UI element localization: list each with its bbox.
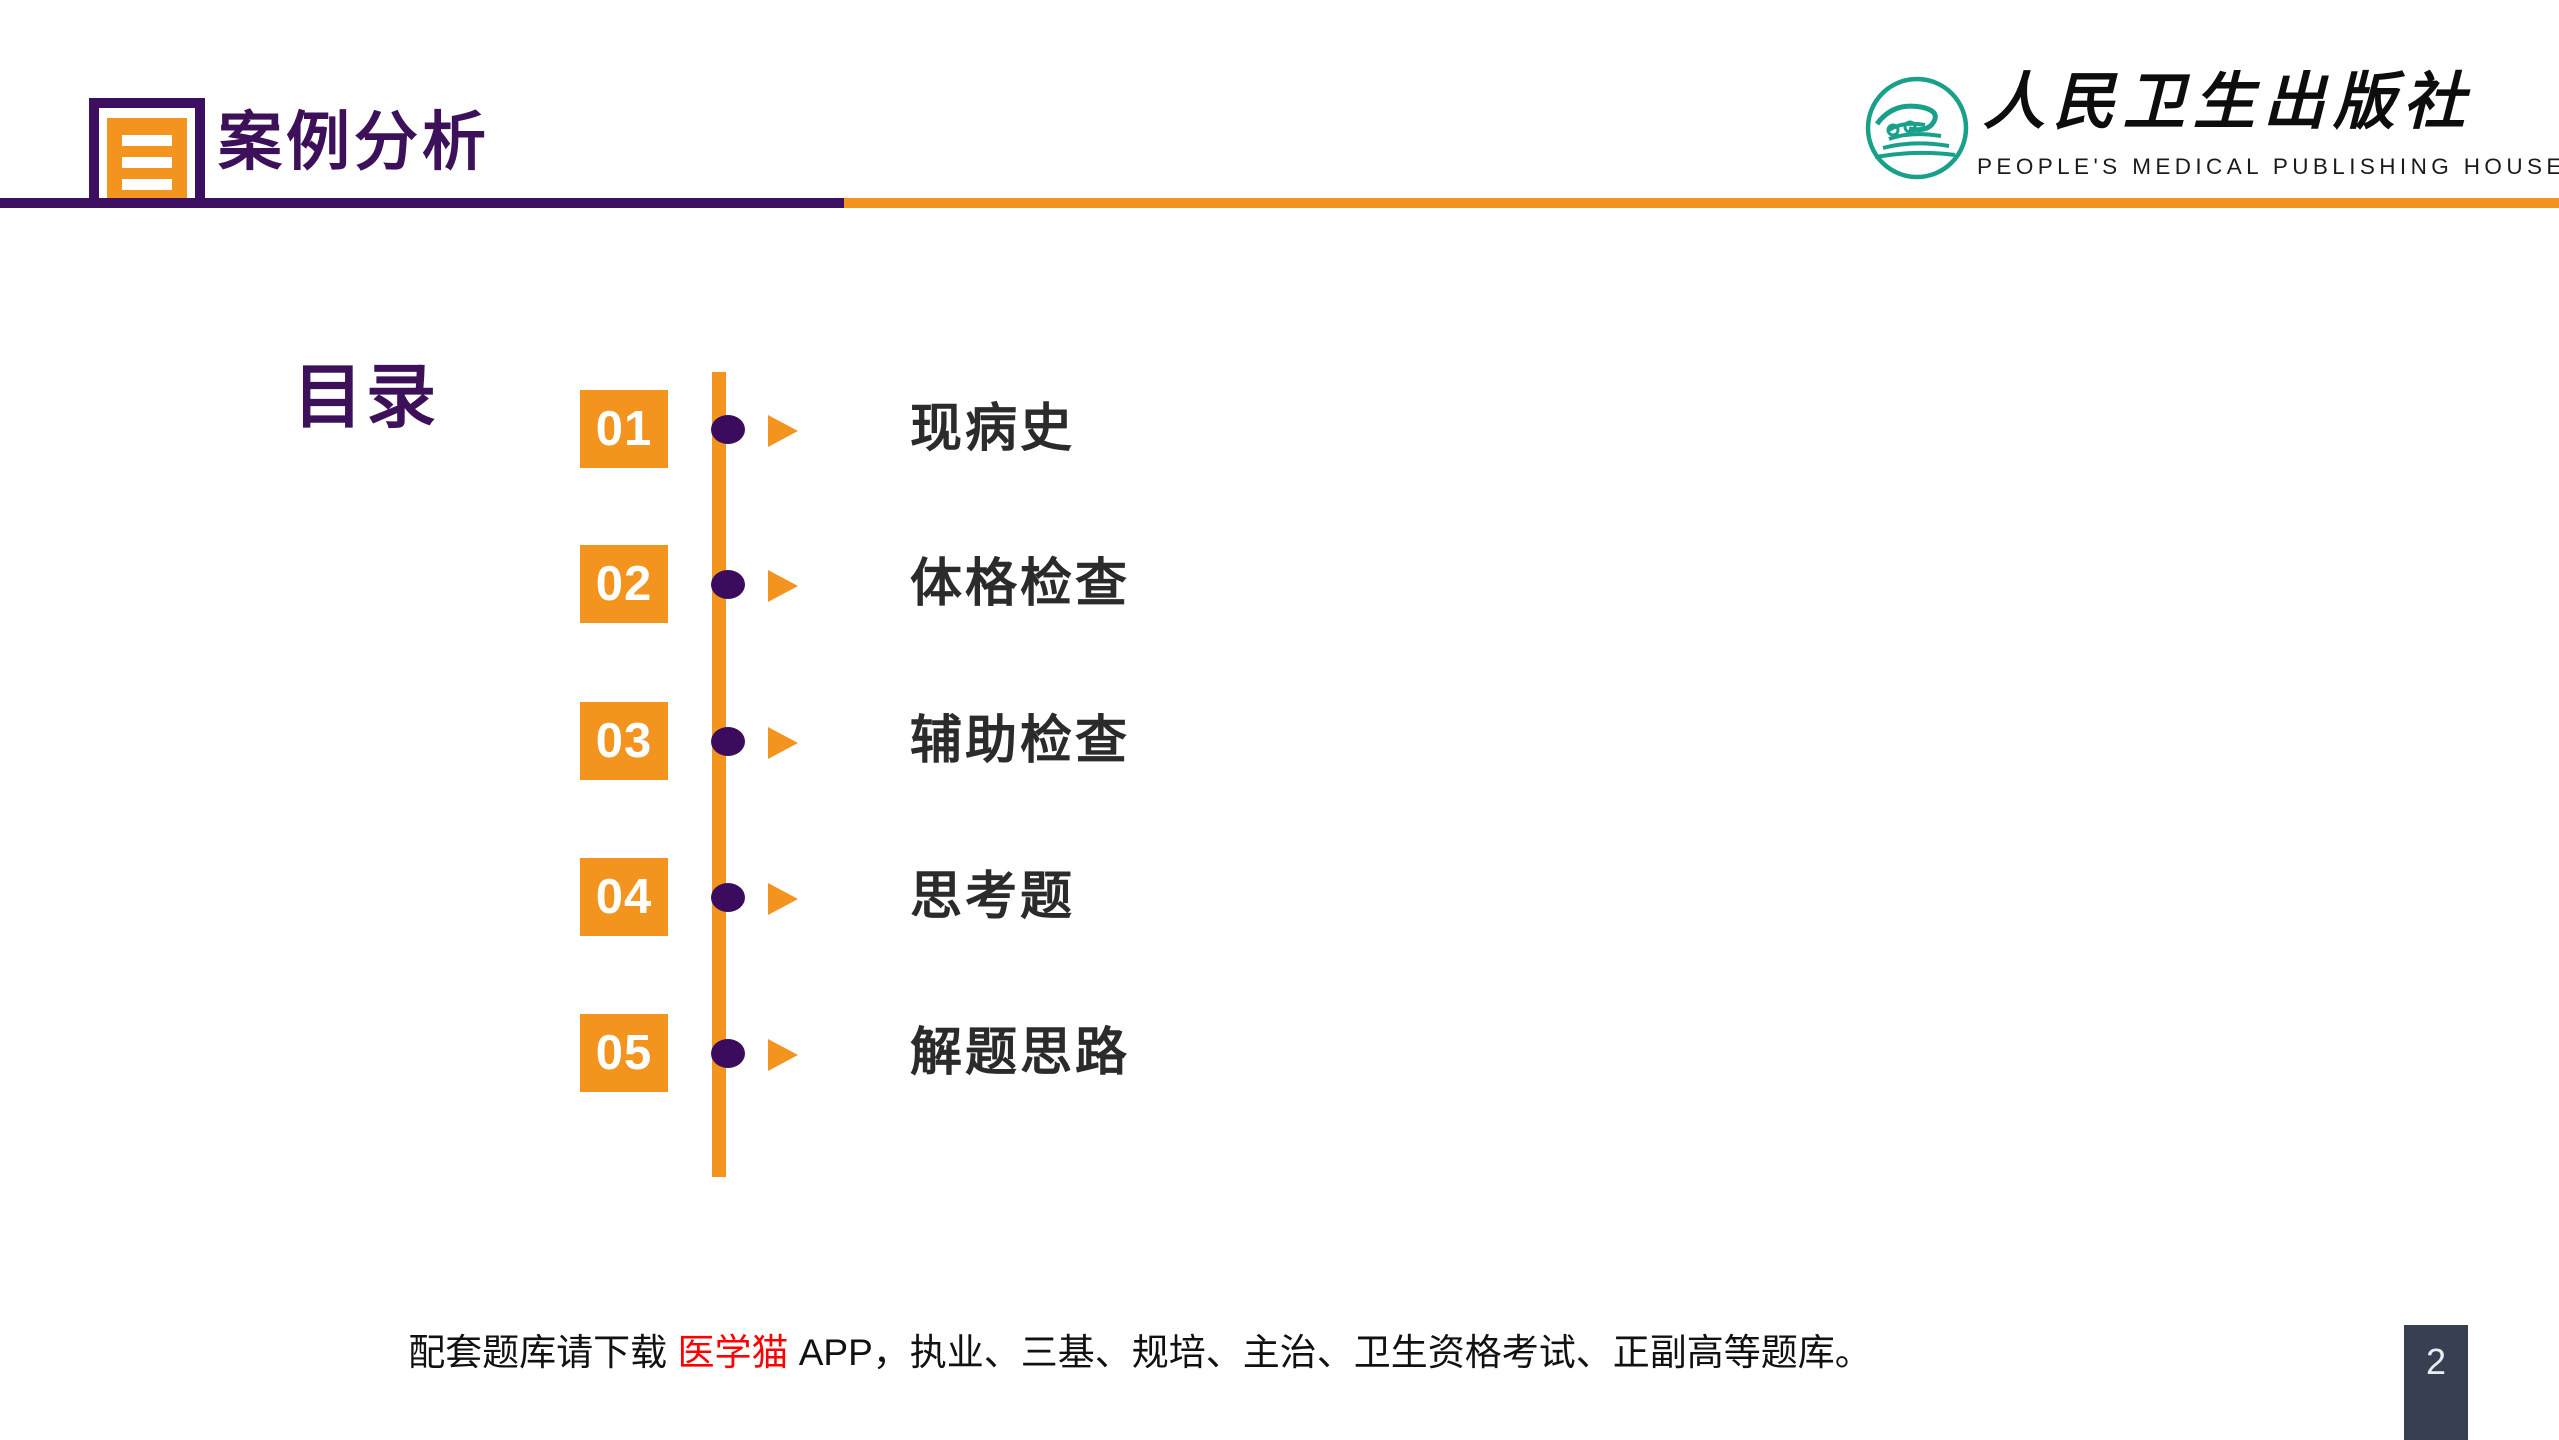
page-title: 案例分析 [218, 110, 490, 174]
list-item[interactable]: 02 体格检查 [580, 545, 1580, 641]
timeline-dot-icon [711, 570, 745, 599]
list-item[interactable]: 04 思考题 [580, 858, 1580, 954]
toc-heading: 目录 [293, 362, 439, 432]
footer-text-after: APP，执业、三基、规培、主治、卫生资格考试、正副高等题库。 [788, 1332, 1871, 1373]
toc-item-number: 02 [580, 545, 668, 623]
publisher-name-en: PEOPLE'S MEDICAL PUBLISHING HOUSE [1977, 154, 2559, 180]
timeline-dot-icon [711, 1039, 745, 1068]
hamburger-bar-3 [122, 179, 172, 190]
hamburger-bar-1 [122, 135, 172, 146]
footer-app-name: 医学猫 [677, 1332, 788, 1373]
publisher-name-cn: 人民卫生出版社 [1983, 68, 2473, 136]
publisher-emblem-icon [1863, 74, 1971, 182]
toc-item-label: 解题思路 [910, 1024, 1130, 1084]
page-number-badge: 2 [2404, 1325, 2468, 1440]
timeline-dot-icon [711, 415, 745, 444]
triangle-arrow-icon [768, 727, 798, 759]
toc-item-label: 体格检查 [910, 555, 1130, 615]
footer-text-before: 配套题库请下载 [408, 1332, 677, 1373]
slide-canvas: 案例分析 人民卫生出版社 PEOPLE'S MEDICAL PUBLISHING… [0, 0, 2559, 1440]
triangle-arrow-icon [768, 570, 798, 602]
header-divider-orange [844, 198, 2559, 208]
publisher-logo: 人民卫生出版社 PEOPLE'S MEDICAL PUBLISHING HOUS… [1855, 62, 2455, 190]
toc-item-label: 思考题 [910, 868, 1075, 928]
triangle-arrow-icon [768, 1039, 798, 1071]
toc-item-label: 现病史 [910, 400, 1075, 460]
toc-item-number: 01 [580, 390, 668, 468]
header-divider-purple [0, 198, 844, 208]
toc-item-number: 05 [580, 1014, 668, 1092]
toc-item-label: 辅助检查 [910, 712, 1130, 772]
footer-note: 配套题库请下载 医学猫 APP，执业、三基、规培、主治、卫生资格考试、正副高等题… [0, 1322, 2280, 1376]
toc-item-number: 04 [580, 858, 668, 936]
list-item[interactable]: 05 解题思路 [580, 1014, 1580, 1110]
list-item[interactable]: 01 现病史 [580, 390, 1580, 486]
triangle-arrow-icon [768, 415, 798, 447]
timeline-dot-icon [711, 727, 745, 756]
list-item[interactable]: 03 辅助检查 [580, 702, 1580, 798]
toc-item-number: 03 [580, 702, 668, 780]
hamburger-bar-2 [122, 157, 172, 168]
timeline-dot-icon [711, 883, 745, 912]
hamburger-menu-icon[interactable] [107, 118, 187, 207]
triangle-arrow-icon [768, 883, 798, 915]
